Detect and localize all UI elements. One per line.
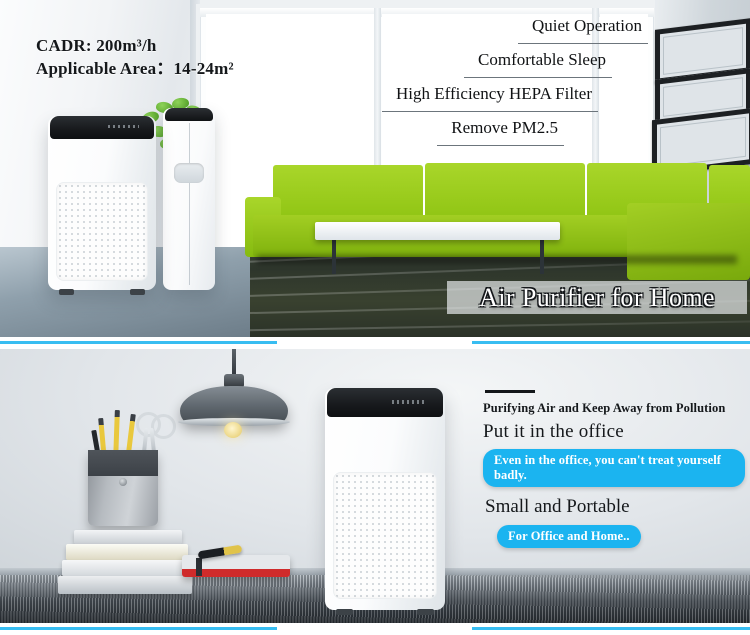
text-rule xyxy=(485,390,535,393)
book xyxy=(58,576,192,594)
feature-item: Comfortable Sleep xyxy=(330,44,660,78)
book xyxy=(62,560,190,576)
spec-block: CADR: 200m³/h Applicable Area：14-24m² xyxy=(36,34,234,80)
office-subtitle: Purifying Air and Keep Away from Polluti… xyxy=(483,401,745,416)
feature-item: Quiet Operation xyxy=(330,10,660,44)
feature-item: Remove PM2.5 xyxy=(330,112,660,146)
pendant-lamp-bulb xyxy=(224,422,242,438)
notebook-band xyxy=(196,558,202,576)
panel-divider-bottom xyxy=(0,623,750,635)
office-text-block: Purifying Air and Keep Away from Polluti… xyxy=(483,390,745,548)
air-purifier-office xyxy=(325,388,445,610)
office-heading-2: Small and Portable xyxy=(485,496,745,518)
panel-divider-middle xyxy=(0,337,750,349)
feature-list: Quiet Operation Comfortable Sleep High E… xyxy=(330,10,660,146)
pencil-cup-rim xyxy=(88,450,158,476)
spec-cadr: CADR: 200m³/h xyxy=(36,34,234,57)
headline-text: Air Purifier for Home xyxy=(479,283,715,313)
product-listing-page: CADR: 200m³/h Applicable Area：14-24m² Qu… xyxy=(0,0,750,635)
pendant-lamp-cord xyxy=(232,349,236,377)
home-scene-panel: CADR: 200m³/h Applicable Area：14-24m² Qu… xyxy=(0,0,750,337)
cup-emblem-icon xyxy=(119,478,127,486)
book xyxy=(74,530,182,544)
headline-banner: Air Purifier for Home xyxy=(447,281,747,314)
air-purifier-main xyxy=(48,116,156,290)
feature-item: High Efficiency HEPA Filter xyxy=(330,78,660,112)
sectional-sofa xyxy=(245,155,750,280)
office-badge-1: Even in the office, you can't treat your… xyxy=(483,449,745,487)
air-purifier-slim xyxy=(163,108,215,290)
office-badge-2: For Office and Home.. xyxy=(497,525,641,548)
spec-area: Applicable Area：14-24m² xyxy=(36,57,234,80)
office-heading-1: Put it in the office xyxy=(483,421,745,443)
coffee-table xyxy=(315,222,560,240)
book xyxy=(66,544,188,560)
